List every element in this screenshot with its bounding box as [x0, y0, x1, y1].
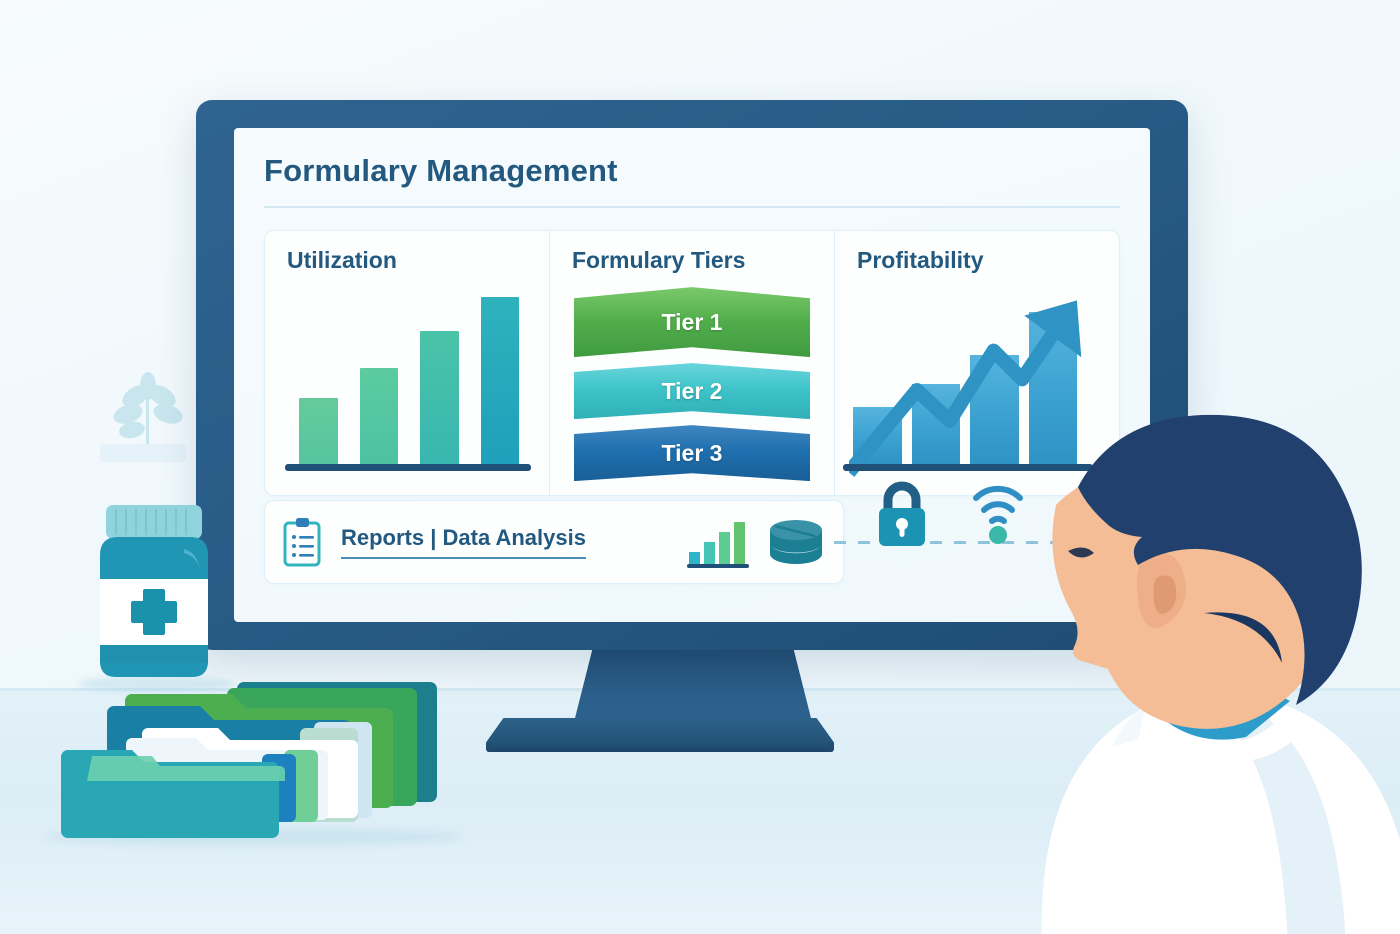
monitor-stand-neck: [573, 650, 813, 726]
database-icon: [765, 516, 827, 568]
tier-block-2[interactable]: Tier 2: [574, 363, 810, 419]
lock-icon: [870, 476, 934, 553]
tier-label: Tier 1: [662, 309, 723, 336]
title-divider: [264, 206, 1120, 208]
clipboard-icon: [281, 516, 325, 568]
panel-title-utilization: Utilization: [287, 247, 531, 274]
scene-root: Formulary Management Utilization: [0, 0, 1400, 934]
toolbar-label[interactable]: Reports | Data Analysis: [341, 525, 586, 559]
page-title: Formulary Management: [264, 154, 1120, 188]
panel-title-formulary-tiers: Formulary Tiers: [572, 247, 816, 274]
panel-formulary-tiers[interactable]: Formulary Tiers Tier 1 Tier 2 Tier 3: [549, 231, 834, 495]
pill-bottle: [88, 495, 220, 685]
reports-toolbar[interactable]: Reports | Data Analysis: [264, 500, 844, 584]
utilization-bar: [481, 297, 520, 465]
monitor-stand-base: [486, 718, 834, 752]
utilization-bar: [299, 398, 338, 465]
tier-pyramid: Tier 1 Tier 2 Tier 3: [574, 287, 810, 481]
utilization-chart: [295, 289, 523, 471]
panel-utilization[interactable]: Utilization: [265, 231, 549, 495]
tier-label: Tier 2: [662, 378, 723, 405]
pharmacist: [950, 255, 1400, 934]
tier-label: Tier 3: [662, 440, 723, 467]
utilization-axis: [285, 464, 531, 471]
utilization-bar: [420, 331, 459, 465]
tier-block-1[interactable]: Tier 1: [574, 287, 810, 357]
tier-block-3[interactable]: Tier 3: [574, 425, 810, 481]
potted-plant: [88, 352, 208, 472]
utilization-bar: [360, 368, 399, 465]
file-folder-stack: [52, 676, 472, 852]
plant-pot: [100, 444, 186, 462]
mini-bar-chart-icon: [685, 516, 753, 568]
